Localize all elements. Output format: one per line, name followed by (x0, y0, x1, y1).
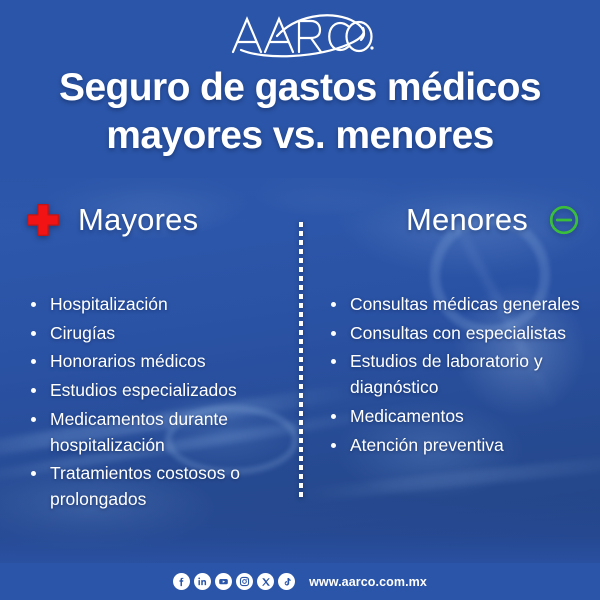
column-divider (299, 222, 303, 497)
tiktok-icon[interactable] (278, 573, 295, 590)
column-menores-title: Menores (406, 202, 528, 238)
instagram-icon[interactable] (236, 573, 253, 590)
list-item: Honorarios médicos (26, 349, 282, 375)
infographic-poster: Seguro de gastos médicos mayores vs. men… (0, 0, 600, 600)
red-cross-icon (26, 203, 60, 237)
list-item: Consultas médicas generales (326, 292, 586, 318)
aarco-logo-icon (225, 12, 375, 58)
list-item: Tratamientos costosos o prolongados (26, 461, 282, 512)
linkedin-glyph (197, 576, 208, 587)
aarco-logo (0, 0, 600, 62)
list-item: Cirugías (26, 321, 282, 347)
social-links (173, 573, 295, 590)
linkedin-icon[interactable] (194, 573, 211, 590)
page-title: Seguro de gastos médicos mayores vs. men… (0, 64, 600, 159)
youtube-glyph (218, 576, 229, 587)
column-mayores-header: Mayores (26, 190, 282, 250)
list-item: Estudios especializados (26, 378, 282, 404)
poster-footer: www.aarco.com.mx (0, 563, 600, 600)
x-twitter-glyph (261, 577, 271, 587)
list-item: Medicamentos durante hospitalización (26, 407, 282, 458)
list-item: Hospitalización (26, 292, 282, 318)
instagram-glyph (239, 576, 250, 587)
column-menores: Menores Consultas médicas generales Cons… (300, 190, 600, 510)
list-item: Medicamentos (326, 404, 586, 430)
x-twitter-icon[interactable] (257, 573, 274, 590)
list-item: Atención preventiva (326, 433, 586, 459)
website-url[interactable]: www.aarco.com.mx (309, 575, 427, 589)
list-item: Consultas con especialistas (326, 321, 586, 347)
poster-header: Seguro de gastos médicos mayores vs. men… (0, 0, 600, 159)
facebook-icon[interactable] (173, 573, 190, 590)
page-title-line-1: Seguro de gastos médicos (28, 64, 572, 112)
circle-minus-icon (548, 204, 580, 236)
tiktok-glyph (282, 577, 292, 587)
list-menores: Consultas médicas generales Consultas co… (326, 292, 586, 458)
column-mayores: Mayores Hospitalización Cirugías Honorar… (0, 190, 300, 510)
facebook-glyph (176, 576, 187, 587)
youtube-icon[interactable] (215, 573, 232, 590)
list-item: Estudios de laboratorio y diagnóstico (326, 349, 586, 400)
page-title-line-2: mayores vs. menores (28, 112, 572, 160)
column-mayores-title: Mayores (78, 202, 198, 238)
column-menores-header: Menores (326, 190, 586, 250)
list-mayores: Hospitalización Cirugías Honorarios médi… (26, 292, 282, 513)
